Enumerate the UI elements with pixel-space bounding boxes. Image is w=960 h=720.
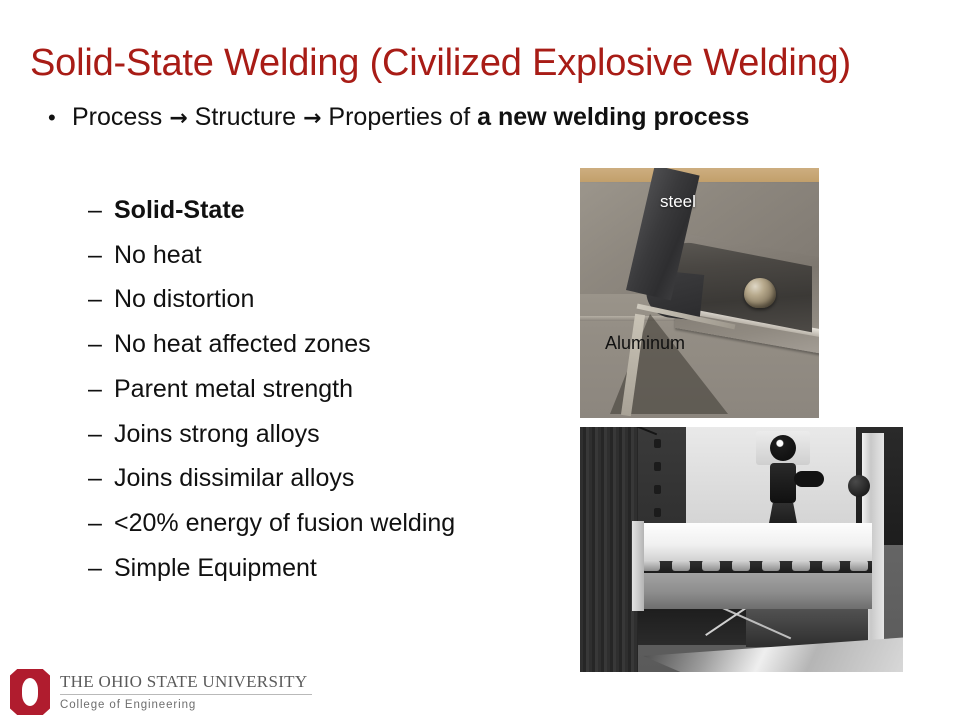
slide: Solid-State Welding (Civilized Explosive… — [0, 0, 960, 720]
workpiece-end-cap — [632, 521, 644, 611]
block-o-inner — [22, 678, 38, 706]
list-item-label: Solid-State — [114, 188, 245, 233]
bullet-level1-part3: Properties of — [321, 103, 477, 131]
list-item: – No distortion — [88, 277, 558, 322]
photo-label-aluminum: Aluminum — [605, 333, 685, 354]
bullet-level1-text: Process → Structure → Properties of a ne… — [72, 100, 749, 136]
bullet-level1-emphasis: a new welding process — [477, 103, 749, 131]
right-arrow-icon: → — [169, 106, 187, 131]
panel-holes — [654, 439, 662, 527]
list-item: – No heat affected zones — [88, 322, 558, 367]
list-item: – <20% energy of fusion welding — [88, 501, 558, 546]
list-item-label: No heat — [114, 233, 202, 278]
list-item: – Solid-State — [88, 188, 558, 233]
list-item-label: Joins dissimilar alloys — [114, 456, 354, 501]
osu-logo: The Ohio State University College of Eng… — [10, 668, 320, 716]
list-item-label: No heat affected zones — [114, 322, 371, 367]
osu-logo-college: College of Engineering — [60, 698, 312, 712]
photo-label-steel: steel — [660, 192, 696, 212]
list-item: – Parent metal strength — [88, 367, 558, 412]
camera-mount-stem — [770, 463, 796, 503]
osu-logo-university: The Ohio State University — [60, 672, 312, 692]
rail-bolt — [848, 475, 870, 497]
dash-icon: – — [88, 277, 114, 322]
bullet-level1-part1: Process — [72, 103, 169, 131]
osu-logo-text: The Ohio State University College of Eng… — [59, 672, 312, 712]
weld-nugget — [744, 278, 776, 308]
list-item: – No heat — [88, 233, 558, 278]
list-item-label: No distortion — [114, 277, 254, 322]
bullet-level2-list: – Solid-State – No heat – No distortion … — [88, 188, 558, 590]
dash-icon: – — [88, 233, 114, 278]
list-item-label: Parent metal strength — [114, 367, 353, 412]
workpiece-bottom-flange — [632, 573, 872, 609]
wooden-post — [580, 427, 638, 672]
dark-panel — [638, 427, 686, 531]
osu-logo-divider — [60, 694, 312, 695]
workpiece-top-flange — [632, 523, 872, 563]
dash-icon: – — [88, 322, 114, 367]
dash-icon: – — [88, 546, 114, 591]
steel-aluminum-weld-photo: steel Aluminum — [580, 168, 819, 418]
dash-icon: – — [88, 501, 114, 546]
right-arrow-icon-2: → — [303, 106, 321, 131]
camera-adjust-knob — [794, 471, 824, 487]
page-title: Solid-State Welding (Civilized Explosive… — [30, 40, 930, 86]
bullet-dot-icon: • — [48, 101, 72, 135]
camera-lens-icon — [770, 435, 796, 461]
dash-icon: – — [88, 412, 114, 457]
list-item-label: Simple Equipment — [114, 546, 317, 591]
list-item-label: Joins strong alloys — [114, 412, 320, 457]
dash-icon: – — [88, 188, 114, 233]
bullet-level1-part2: Structure — [188, 103, 303, 131]
weld-stud-row — [640, 560, 870, 572]
list-item-label: <20% energy of fusion welding — [114, 501, 455, 546]
dash-icon: – — [88, 456, 114, 501]
list-item: – Simple Equipment — [88, 546, 558, 591]
list-item: – Joins dissimilar alloys — [88, 456, 558, 501]
list-item: – Joins strong alloys — [88, 412, 558, 457]
osu-block-o-icon — [10, 669, 50, 715]
welding-apparatus-photo — [580, 427, 903, 672]
bullet-level1: • Process → Structure → Properties of a … — [48, 100, 928, 136]
dash-icon: – — [88, 367, 114, 412]
